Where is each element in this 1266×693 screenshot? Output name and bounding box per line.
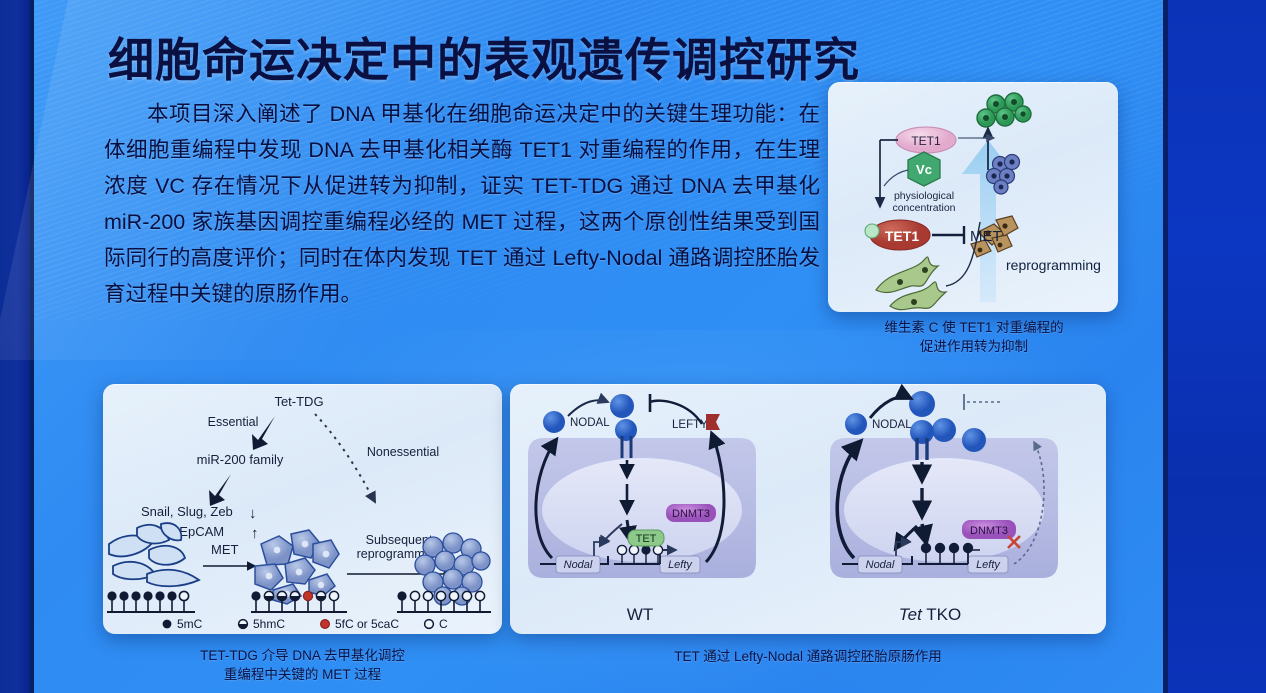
figure-caption-top-right: 维生素 C 使 TET1 对重编程的 促进作用转为抑制 [838, 318, 1110, 356]
slide-title: 细胞命运决定中的表观遗传调控研究 [108, 24, 868, 90]
vitaminc-tet1-diagram: TET1 Vc physiological concentration TET1… [828, 82, 1118, 312]
up-arrow-icon: ↑ [251, 525, 259, 542]
legend-5fc-label: 5fC or 5caC [335, 617, 399, 631]
met-label-bl: MET [211, 542, 239, 557]
caption-tr-line2: 促进作用转为抑制 [838, 337, 1110, 356]
slide-canvas: 细胞命运决定中的表观遗传调控研究 本项目深入阐述了 DNA 甲基化在细胞命运决定… [0, 0, 1266, 693]
figure-vitaminc-tet1: TET1 Vc physiological concentration TET1… [828, 82, 1118, 312]
legend-5fc-icon [321, 620, 330, 629]
methylation-track-group2 [251, 591, 347, 612]
reprogramming-label: reprogramming [1006, 257, 1101, 273]
tko-subpanel: NODAL Nodal Lefty [830, 391, 1058, 624]
wt-title: WT [627, 605, 653, 624]
legend-c-icon [425, 620, 434, 629]
slide-body-paragraph: 本项目深入阐述了 DNA 甲基化在细胞命运决定中的关键生理功能：在体细胞重编程中… [104, 96, 820, 312]
ipsc-colony-icon [977, 93, 1031, 127]
wt-lefty-label: LEFTY [672, 419, 708, 431]
tko-nodal-ligand-4 [962, 428, 986, 452]
legend-c-label: C [439, 617, 448, 631]
physiological-line2: concentration [892, 202, 955, 214]
tet1-bound-cofactor-icon [865, 224, 879, 238]
essential-label: Essential [208, 415, 259, 429]
nonessential-label: Nonessential [367, 445, 439, 459]
tko-title: Tet TKO [899, 605, 961, 624]
tko-receptor-head [910, 420, 934, 444]
figure-caption-bottom-right: TET 通过 Lefty-Nodal 通路调控胚胎原肠作用 [608, 647, 1008, 666]
vitamin-c-node: Vc [908, 152, 940, 186]
tet-tdg-met-diagram: Tet-TDG Essential Nonessential miR-200 f… [103, 384, 502, 634]
snail-label-group: Snail, Slug, Zeb ↓ [141, 504, 257, 522]
tko-nodal-gene-label: Nodal [866, 559, 895, 571]
wt-nodal-ligand-1 [543, 411, 565, 433]
legend-5mc-icon [163, 620, 172, 629]
figure-caption-bottom-left: TET-TDG 介导 DNA 去甲基化调控 重编程中关键的 MET 过程 [130, 646, 475, 684]
tko-nodal-label: NODAL [872, 419, 912, 431]
caption-bl-line1: TET-TDG 介导 DNA 去甲基化调控 [130, 646, 475, 665]
figure-tet-tdg-met: Tet-TDG Essential Nonessential miR-200 f… [103, 384, 502, 634]
tko-nodal-ligand-2 [909, 391, 935, 417]
tet-tdg-label: Tet-TDG [274, 394, 323, 409]
background-left-strip [0, 0, 30, 693]
physiological-line1: physiological [894, 190, 954, 202]
tko-dnmt3-label: DNMT3 [970, 525, 1008, 537]
tko-nodal-ligand-1 [845, 413, 867, 435]
wt-lefty-flag-icon [706, 414, 720, 430]
wt-subpanel: NODAL LEFTY Nodal [528, 394, 756, 624]
figure-lefty-nodal: NODAL LEFTY Nodal [510, 384, 1106, 634]
vitamin-c-label: Vc [916, 162, 932, 177]
legend-5mc-label: 5mC [177, 617, 203, 631]
tko-nodal-ligand-3 [932, 418, 956, 442]
background-right-panel [1168, 0, 1266, 693]
caption-bl-line2: 重编程中关键的 MET 过程 [130, 665, 475, 684]
mir200-arrow-shape [209, 474, 231, 506]
wt-receptor-head [615, 419, 637, 441]
methylation-track-group1 [107, 591, 195, 612]
wt-dnmt3-label: DNMT3 [672, 508, 710, 520]
wt-nodal-gene-label: Nodal [564, 559, 593, 571]
met-label: MET [970, 228, 1002, 245]
legend-5hmc-label: 5hmC [253, 617, 285, 631]
tko-title-main: TKO [926, 605, 961, 624]
wt-nodal-label: NODAL [570, 417, 610, 429]
wt-lefty-gene-label: Lefty [668, 559, 693, 571]
tet1-top-label: TET1 [911, 134, 941, 148]
methylation-legend: 5mC 5hmC 5fC or 5caC C [163, 617, 448, 631]
fibroblast-cells-icon [876, 257, 946, 310]
caption-tr-line1: 维生素 C 使 TET1 对重编程的 [838, 318, 1110, 337]
tet1-bottom-label: TET1 [885, 228, 919, 244]
tko-title-prefix: Tet [899, 605, 923, 624]
wt-nodal-ligand-2 [610, 394, 634, 418]
tko-lefty-gene-label: Lefty [976, 559, 1001, 571]
down-arrow-icon: ↓ [249, 505, 257, 522]
lefty-nodal-diagram: NODAL LEFTY Nodal [510, 384, 1106, 634]
mir200-label: miR-200 family [197, 452, 284, 467]
snail-label: Snail, Slug, Zeb [141, 504, 233, 519]
wt-tet-label: TET [636, 533, 657, 545]
